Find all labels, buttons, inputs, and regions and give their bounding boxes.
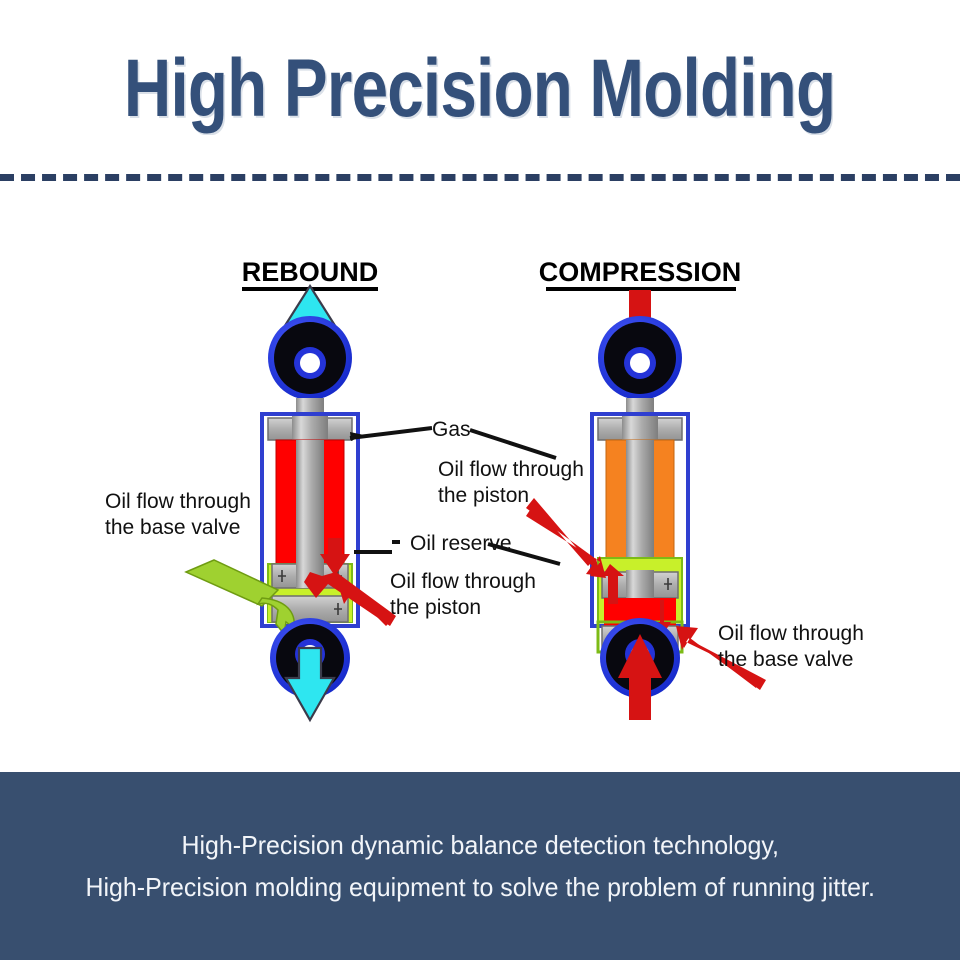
label-oil-flow-piston-bottom-line1: Oil flow through: [390, 570, 536, 593]
label-oil-flow-base-valve-left-line2: the base valve: [105, 516, 240, 539]
label-oil-flow-piston-top-line2: the piston: [438, 484, 529, 507]
rebound-top-eyelet-icon: [268, 316, 352, 400]
label-oil-flow-piston-bottom-line2: the piston: [390, 596, 481, 619]
compression-rod-top: [622, 416, 658, 442]
rebound-rod-top: [292, 416, 328, 442]
label-oil-flow-piston-top-line1: Oil flow through: [438, 458, 584, 481]
rebound-rod-inner: [296, 440, 324, 564]
label-oil-reserve: Oil reserve: [410, 532, 512, 555]
label-oil-flow-base-valve-right-line1: Oil flow through: [718, 622, 864, 645]
rebound-heading: REBOUND: [242, 257, 379, 287]
diagram-region: REBOUND: [0, 186, 960, 772]
shock-absorber-diagram: REBOUND: [0, 186, 960, 772]
dashed-divider: [0, 174, 960, 181]
diagram-labels: Oil flow through the base valve Gas Oil …: [105, 418, 864, 671]
caption-line-1: High-Precision dynamic balance detection…: [181, 824, 779, 866]
compression-top-eyelet-icon: [598, 316, 682, 400]
compression-rod-bottom: [626, 570, 654, 598]
leader-gas-right: [470, 430, 556, 458]
caption-line-2: High-Precision molding equipment to solv…: [85, 866, 874, 908]
label-oil-flow-base-valve-left-line1: Oil flow through: [105, 490, 251, 513]
footer-caption: High-Precision dynamic balance detection…: [0, 772, 960, 960]
poster-root: High Precision Molding: [0, 0, 960, 960]
label-gas: Gas: [432, 418, 471, 441]
header: High Precision Molding: [0, 0, 960, 172]
label-oil-flow-base-valve-right-line2: the base valve: [718, 648, 853, 671]
leader-gas-left: [350, 428, 432, 438]
page-title: High Precision Molding: [124, 48, 835, 130]
compression-heading: COMPRESSION: [539, 257, 742, 287]
compression-rod-inner: [626, 440, 654, 572]
panel-rebound: REBOUND: [186, 257, 396, 720]
